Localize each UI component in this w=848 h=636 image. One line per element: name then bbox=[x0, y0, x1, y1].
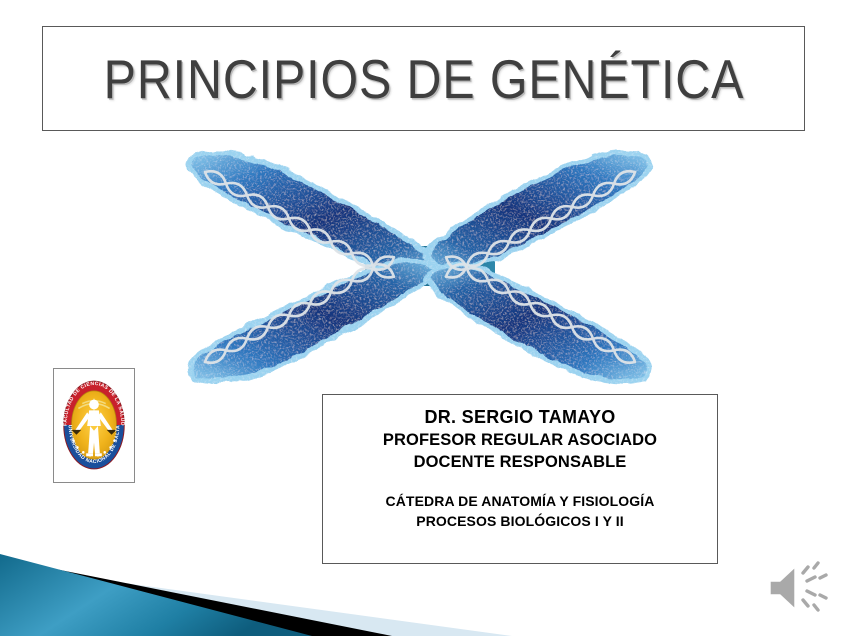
speaker-icon[interactable] bbox=[764, 558, 832, 618]
slide-canvas: PRINCIPIOS DE GENÉTICA bbox=[0, 0, 848, 636]
department-line: CÁTEDRA DE ANATOMÍA Y FISIOLOGÍA bbox=[323, 491, 717, 511]
info-spacer bbox=[323, 473, 717, 491]
chromosome-illustration[interactable] bbox=[175, 138, 665, 393]
title-box[interactable]: PRINCIPIOS DE GENÉTICA bbox=[42, 26, 805, 131]
bottom-left-diagonal-banner bbox=[0, 516, 848, 636]
presenter-role-1: PROFESOR REGULAR ASOCIADO bbox=[323, 429, 717, 451]
presenter-role-2: DOCENTE RESPONSABLE bbox=[323, 451, 717, 473]
university-seal[interactable]: FACULTAD DE CIENCIAS DE LA SALUD UNIVERS… bbox=[53, 368, 135, 483]
teal-wedge bbox=[0, 554, 312, 636]
presenter-name: DR. SERGIO TAMAYO bbox=[323, 406, 717, 429]
page-title: PRINCIPIOS DE GENÉTICA bbox=[103, 47, 744, 111]
